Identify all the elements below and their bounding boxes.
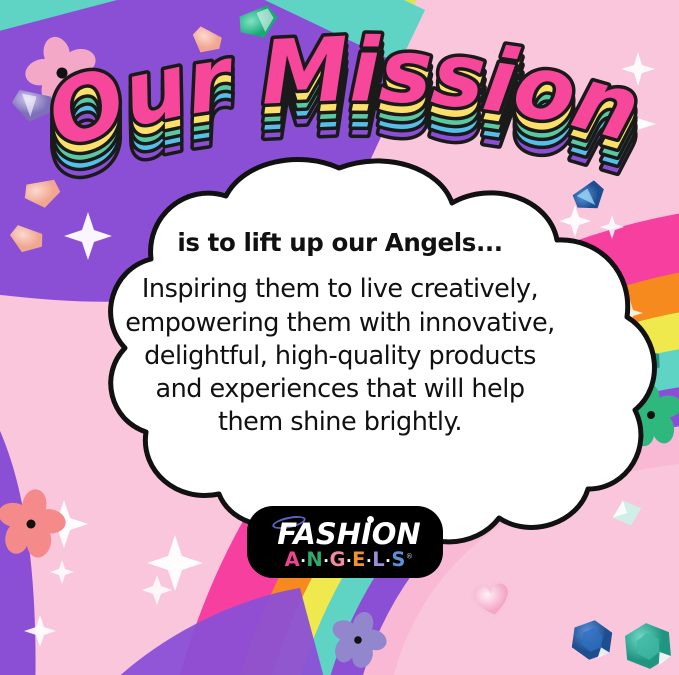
mission-body-line: them shine brightly. bbox=[95, 406, 585, 439]
logo-angels-letter-e: E bbox=[352, 548, 366, 571]
mission-body-line: delightful, high-quality products bbox=[95, 340, 585, 373]
logo-angels-letter-l: L bbox=[372, 548, 385, 571]
mission-headline: is to lift up our Angels... bbox=[95, 228, 585, 257]
logo-wordmark-angels: A·N·G·E·L·S® bbox=[264, 550, 434, 570]
fashion-angels-logo[interactable]: FASHION A·N·G·E·L·S® bbox=[247, 506, 443, 578]
logo-wordmark-fashion: FASHION bbox=[264, 520, 434, 549]
logo-angels-letter-n: N bbox=[306, 548, 323, 571]
mission-body: Inspiring them to live creatively, empow… bbox=[95, 273, 585, 439]
logo-i-dot-icon bbox=[367, 516, 374, 523]
mission-body-line: Inspiring them to live creatively, bbox=[95, 273, 585, 306]
logo-fashion-text: FASHION bbox=[277, 517, 420, 551]
mission-body-line: and experiences that will help bbox=[95, 373, 585, 406]
mission-poster: Our Mission Our Mission Our Mission Our … bbox=[0, 0, 679, 675]
logo-angels-letter-g: G bbox=[329, 548, 346, 571]
logo-angels-letter-s: S bbox=[391, 548, 406, 571]
logo-trademark: ® bbox=[406, 553, 414, 561]
mission-copy: is to lift up our Angels... Inspiring th… bbox=[95, 228, 585, 439]
logo-angels-letter-a: A bbox=[285, 548, 301, 571]
mission-body-line: empowering them with innovative, bbox=[95, 307, 585, 340]
